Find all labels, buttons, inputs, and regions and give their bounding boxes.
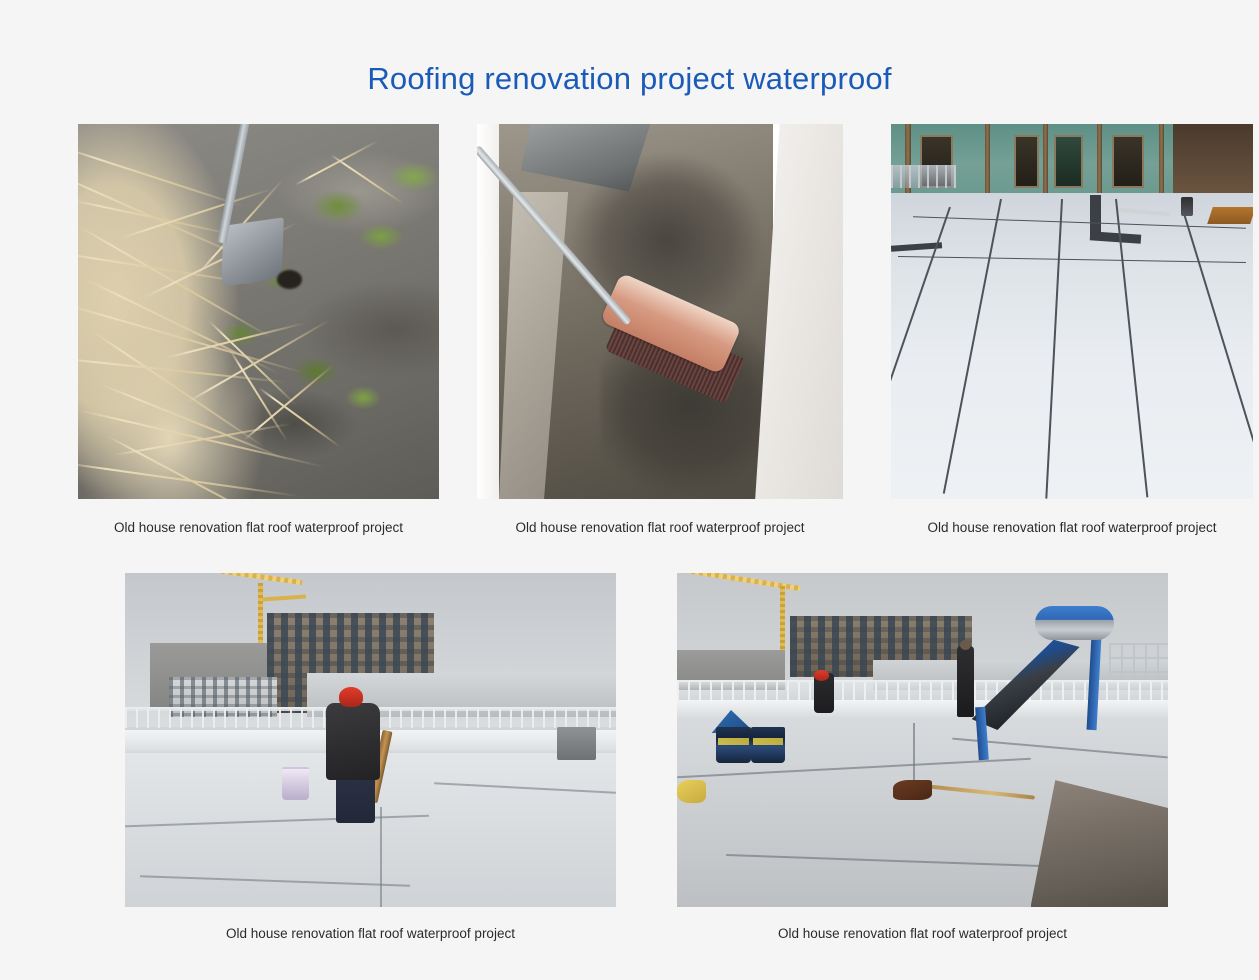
red-helmet-icon: [339, 687, 364, 707]
figure-photo-4[interactable]: Old house renovation flat roof waterproo…: [125, 573, 616, 953]
broom-head: [893, 780, 932, 800]
figure-photo-2[interactable]: Old house renovation flat roof waterproo…: [477, 124, 843, 554]
coating-bucket: [751, 727, 785, 764]
photo-5-caption: Old house renovation flat roof waterproo…: [778, 925, 1067, 943]
worker-figure: [957, 646, 974, 716]
shovel-blade-icon: [222, 217, 285, 286]
photo-5-canvas: [677, 573, 1168, 907]
figure-photo-5[interactable]: Old house renovation flat roof waterproo…: [677, 573, 1168, 953]
photo-3-canvas: [891, 124, 1253, 499]
photo-2-caption: Old house renovation flat roof waterproo…: [516, 519, 805, 537]
photo-2-canvas: [477, 124, 843, 499]
photo-3-caption: Old house renovation flat roof waterproo…: [928, 519, 1217, 537]
gallery-page: Roofing renovation project waterproof: [0, 0, 1259, 980]
photo-1-canvas: [78, 124, 439, 499]
dry-grass-blades: [78, 124, 439, 499]
photo-4-canvas: [125, 573, 616, 907]
photo-1-caption: Old house renovation flat roof waterproo…: [114, 519, 403, 537]
figure-photo-1[interactable]: Old house renovation flat roof waterproo…: [78, 124, 439, 554]
coating-bucket: [716, 727, 750, 764]
worker-figure: [326, 703, 380, 780]
paint-bucket: [282, 767, 309, 800]
photo-4-image[interactable]: [125, 573, 616, 907]
paint-bucket: [1181, 197, 1193, 216]
red-helmet-icon: [814, 670, 829, 681]
figure-photo-3[interactable]: Old house renovation flat roof waterproo…: [891, 124, 1253, 554]
photo-2-image[interactable]: [477, 124, 843, 499]
photo-5-image[interactable]: [677, 573, 1168, 907]
photo-3-image[interactable]: [891, 124, 1253, 499]
photo-1-image[interactable]: [78, 124, 439, 499]
photo-4-caption: Old house renovation flat roof waterproo…: [226, 925, 515, 943]
page-title: Roofing renovation project waterproof: [0, 59, 1259, 99]
solar-water-heater-tank: [1035, 606, 1114, 639]
